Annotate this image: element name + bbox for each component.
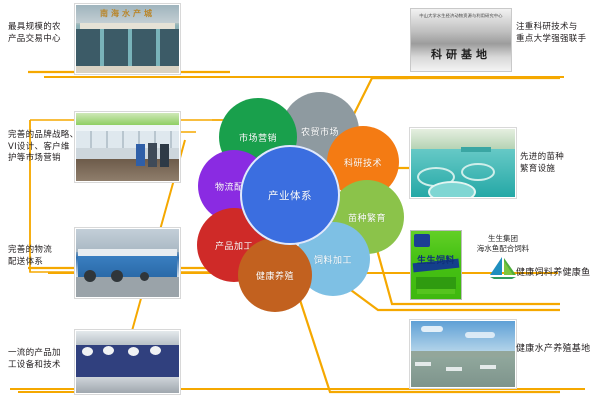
petal-healthy-farming[interactable]: 健康养殖 [238, 238, 312, 312]
petal-healthy-farming-label: 健康养殖 [256, 269, 294, 282]
right-caption-research-base: 注重科研技术与 重点大学强强联手 [516, 22, 600, 45]
right-caption-breeding-facility: 先进的苗种 繁育设施 [520, 152, 594, 175]
divider-rule-1 [44, 76, 564, 78]
left-photo-brand-strategy [75, 112, 180, 182]
right-photo-breeding-facility [410, 128, 516, 198]
left-photo-logistics-system [75, 228, 180, 298]
right-caption-healthy-feed: 健康饲料养健康鱼 [516, 268, 600, 280]
feed-brand-line1: 生生集团 [466, 234, 540, 244]
petal-feed-processing-label: 饲料加工 [314, 253, 352, 266]
petal-research-tech-label: 科研技术 [344, 156, 382, 169]
left-photo-trade-center: 南海水产城 [75, 4, 180, 74]
petal-farm-market-label: 农贸市场 [301, 125, 339, 138]
feed-bag-text: 生生饲料 [411, 253, 461, 266]
plaque-arc-text: 中山大学水生经济动物资源与利用研究中心 [411, 13, 511, 19]
right-plaque-research-base: 中山大学水生经济动物资源与利用研究中心 科研基地 [410, 8, 512, 72]
left-photo-processing-equipment [75, 330, 180, 394]
right-photo-aquaculture-base [410, 320, 516, 388]
petal-market-sales-label: 市场营销 [239, 131, 277, 144]
center-bubble-industry-system[interactable]: 产业体系 [240, 145, 340, 245]
right-caption-aquaculture-base: 健康水产养殖基地 [516, 344, 600, 356]
slide-canvas: 最具规模的农 产品交易中心 南海水产城 完善的品牌战略、 VI设计、客户维 护等… [0, 0, 600, 404]
sail-logo-icon [486, 255, 520, 281]
right-feed-bag-image: 生生饲料 [410, 230, 462, 300]
feed-brand-line2: 海水鱼配合饲料 [466, 244, 540, 254]
petal-seed-breeding-label: 苗种繁育 [348, 211, 386, 224]
center-bubble-label: 产业体系 [268, 188, 312, 203]
plaque-main-text: 科研基地 [411, 46, 511, 62]
